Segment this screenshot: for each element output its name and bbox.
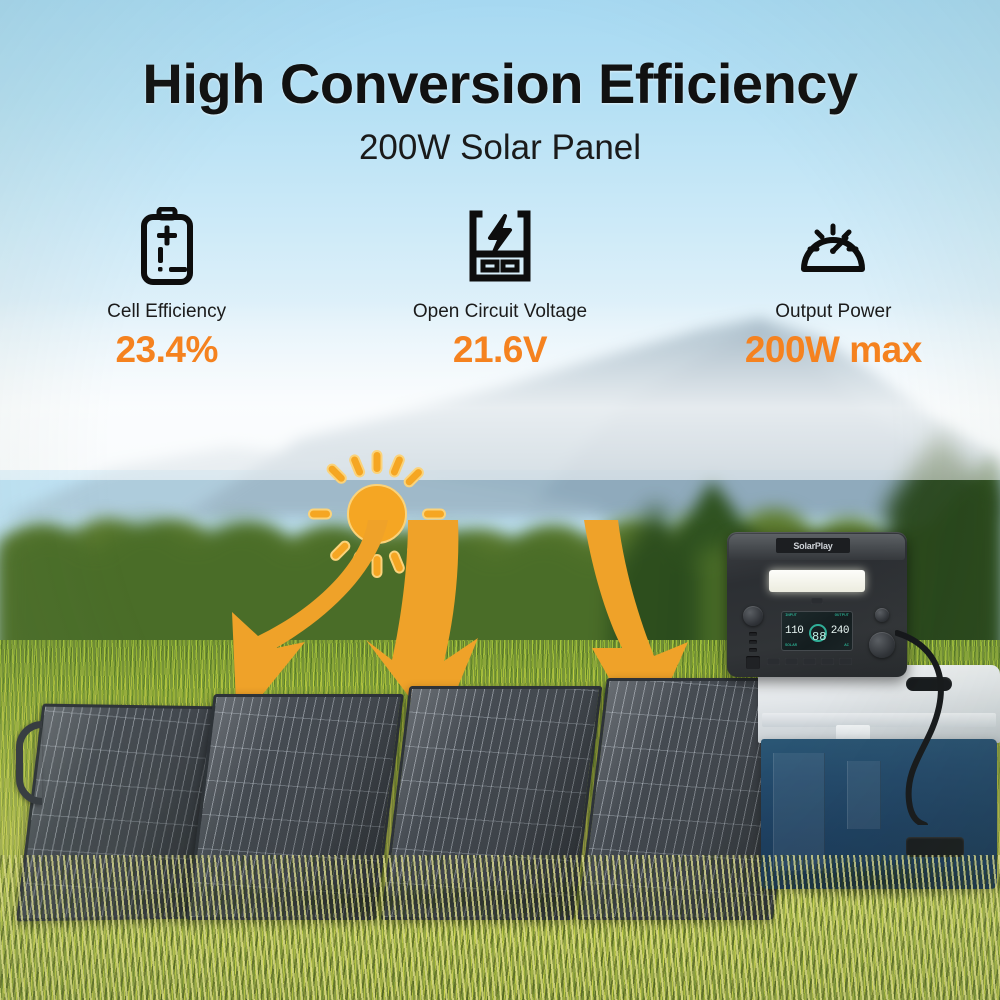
station-bottom-button[interactable] [821,658,834,665]
station-bottom-button[interactable] [839,658,852,665]
lcd-status-right: OUTPUT [835,614,849,618]
station-brand-logo: SolarPlay [776,538,850,553]
page-title: High Conversion Efficiency [0,55,1000,114]
battery-icon [17,205,317,287]
feature-output-power: Output Power 200W max [683,205,983,371]
feature-value: 23.4% [17,329,317,371]
station-port[interactable] [749,648,757,652]
product-marketing-image: High Conversion Efficiency 200W Solar Pa… [0,0,1000,1000]
station-dc-port[interactable] [746,656,760,669]
station-power-button[interactable] [875,608,889,622]
lcd-input-watts: 110 [785,625,803,637]
cooler-rib [847,761,881,829]
panel-handle-left[interactable] [16,721,42,805]
station-light-button[interactable] [811,598,823,604]
lcd-battery-percent: 88 [812,630,826,644]
solar-cell-bolt-icon [350,205,650,287]
station-left-knob[interactable] [743,606,763,626]
station-bottom-button[interactable] [803,658,816,665]
station-port[interactable] [749,632,757,636]
station-led-light-bar [769,570,865,592]
station-bottom-button[interactable] [785,658,798,665]
lcd-output-watts: 240 [831,625,849,637]
feature-open-circuit-voltage: Open Circuit Voltage 21.6V [350,205,650,371]
cooler-rib [773,753,825,871]
lcd-foot-right: AC [844,644,849,648]
feature-value: 21.6V [350,329,650,371]
station-ac-outlet[interactable] [869,632,895,658]
cooler-side-handle[interactable] [906,837,964,857]
feature-label: Cell Efficiency [17,301,317,323]
lcd-status-left: INPUT [785,614,797,618]
station-lcd-display: INPUT OUTPUT 110 240 88 SOLAR AC [781,611,853,651]
header-block: High Conversion Efficiency 200W Solar Pa… [0,0,1000,168]
feature-label: Open Circuit Voltage [350,301,650,323]
station-port[interactable] [749,640,757,644]
feature-label: Output Power [683,301,983,323]
cooler-lid-handle[interactable] [906,677,952,691]
cooler-lid-lip [762,713,996,727]
foreground-grass-blades [0,855,1000,1000]
feature-spec-row: Cell Efficiency 23.4% Open Circuit Volta… [0,205,1000,371]
feature-cell-efficiency: Cell Efficiency 23.4% [17,205,317,371]
lcd-foot-left: SOLAR [785,644,797,648]
feature-value: 200W max [683,329,983,371]
gauge-icon [683,205,983,287]
station-bottom-button[interactable] [767,658,780,665]
page-subtitle: 200W Solar Panel [0,128,1000,168]
portable-power-station: SolarPlay INPUT OUTPUT 110 240 88 SOLAR … [727,532,907,677]
